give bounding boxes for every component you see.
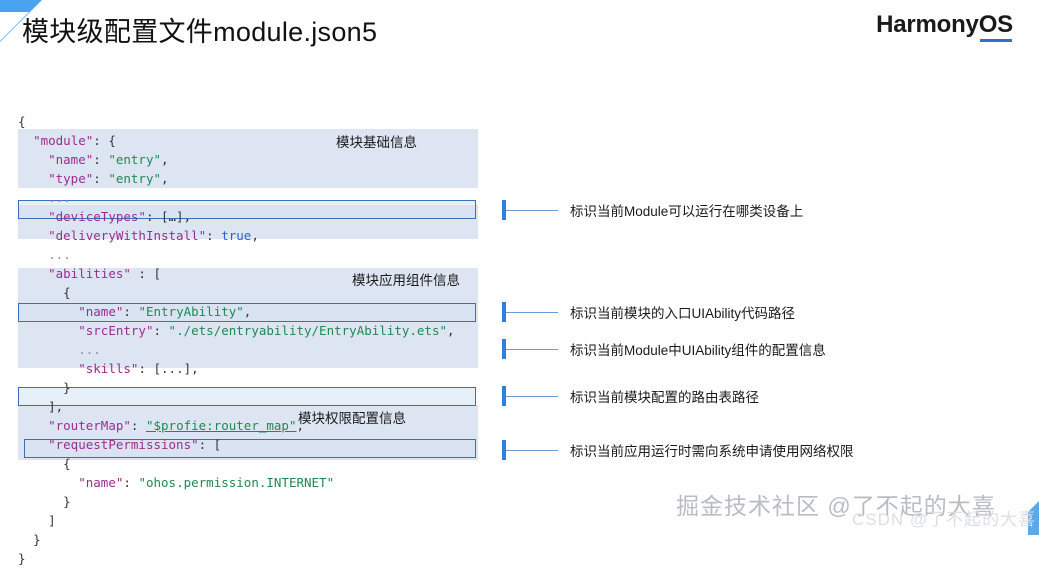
code-token: : — [131, 418, 146, 433]
code-token: ... — [48, 190, 71, 205]
code-token: "deviceTypes" — [48, 209, 146, 224]
code-token: : [ — [199, 437, 222, 452]
annotation-leader-line — [506, 396, 558, 397]
code-token: : — [123, 475, 138, 490]
annotation-text: 标识当前Module可以运行在哪类设备上 — [570, 200, 803, 220]
code-token: , — [161, 171, 169, 186]
brand-suffix-wrap: OS — [979, 11, 1013, 39]
code-token: "$profie:router_map" — [146, 418, 297, 433]
annotation-text: 标识当前模块的入口UIAbility代码路径 — [570, 302, 795, 322]
code-line: "name": "EntryAbility", — [18, 302, 488, 321]
code-line: ... — [18, 245, 488, 264]
code-token: , — [251, 228, 259, 243]
code-token: : — [206, 228, 221, 243]
code-token: ], — [48, 399, 63, 414]
code-token: "name" — [48, 152, 93, 167]
code-line: "name": "ohos.permission.INTERNET" — [18, 473, 488, 492]
code-token: "requestPermissions" — [48, 437, 199, 452]
code-listing: { "module": { "name": "entry", "type": "… — [18, 112, 488, 568]
code-line: } — [18, 549, 488, 568]
code-token: , — [447, 323, 455, 338]
code-token: true — [221, 228, 251, 243]
code-line: } — [18, 492, 488, 511]
code-line: ... — [18, 188, 488, 207]
code-token: "./ets/entryability/EntryAbility.ets" — [169, 323, 447, 338]
brand-prefix: Harmony — [876, 11, 979, 38]
code-token: : — [123, 304, 138, 319]
code-line: ], — [18, 397, 488, 416]
code-line: { — [18, 112, 488, 131]
code-line: { — [18, 454, 488, 473]
code-token: "name" — [78, 475, 123, 490]
annotation-routermap: 标识当前模块配置的路由表路径 — [502, 386, 759, 406]
code-token: ... — [48, 247, 71, 262]
annotation-leader-line — [506, 349, 558, 350]
harmonyos-logo: HarmonyOS — [876, 11, 1013, 39]
code-token: "srcEntry" — [78, 323, 153, 338]
code-line: "deliveryWithInstall": true, — [18, 226, 488, 245]
code-line: } — [18, 378, 488, 397]
code-token: , — [161, 152, 169, 167]
watermark-secondary: CSDN @了不起的大喜 — [852, 505, 1036, 530]
code-token: { — [63, 456, 71, 471]
annotation-text: 标识当前应用运行时需向系统申请使用网络权限 — [570, 440, 854, 460]
code-token: "module" — [33, 133, 93, 148]
section-caption-permissions: 模块权限配置信息 — [298, 407, 406, 427]
code-token: : [ — [131, 266, 161, 281]
code-token: "routerMap" — [48, 418, 131, 433]
code-token: : — [153, 323, 168, 338]
code-token: { — [63, 285, 71, 300]
page-title: 模块级配置文件module.json5 — [22, 10, 377, 49]
code-token: "type" — [48, 171, 93, 186]
annotation-text: 标识当前模块配置的路由表路径 — [570, 386, 759, 406]
code-token: , — [244, 304, 252, 319]
code-line: "srcEntry": "./ets/entryability/EntryAbi… — [18, 321, 488, 340]
brand-underline — [980, 39, 1012, 42]
brand-suffix: OS — [979, 11, 1013, 38]
code-token: "EntryAbility" — [138, 304, 243, 319]
code-token: : — [93, 152, 108, 167]
code-line: ] — [18, 511, 488, 530]
code-token: : { — [93, 133, 116, 148]
code-token: } — [63, 494, 71, 509]
code-token: } — [33, 532, 41, 547]
code-token: "ohos.permission.INTERNET" — [138, 475, 334, 490]
code-token: } — [18, 551, 26, 566]
code-line: } — [18, 530, 488, 549]
code-token: ... — [78, 342, 101, 357]
annotation-leader-line — [506, 450, 558, 451]
code-token: { — [18, 114, 26, 129]
code-line: "routerMap": "$profie:router_map", — [18, 416, 488, 435]
code-token: "abilities" — [48, 266, 131, 281]
annotation-leader-line — [506, 312, 558, 313]
annotation-uiability-config: 标识当前Module中UIAbility组件的配置信息 — [502, 339, 826, 359]
code-line: "skills": [...], — [18, 359, 488, 378]
section-caption-abilities: 模块应用组件信息 — [352, 269, 460, 289]
code-token: : [...], — [138, 361, 198, 376]
annotation-text: 标识当前Module中UIAbility组件的配置信息 — [570, 339, 826, 359]
code-token: "entry" — [108, 171, 161, 186]
section-caption-module-basic: 模块基础信息 — [336, 131, 417, 151]
code-line: "name": "entry", — [18, 150, 488, 169]
code-line: "requestPermissions": [ — [18, 435, 488, 454]
annotation-permission: 标识当前应用运行时需向系统申请使用网络权限 — [502, 440, 854, 460]
code-token: ] — [48, 513, 56, 528]
annotation-leader-line — [506, 210, 558, 211]
code-token: : […], — [146, 209, 191, 224]
code-token: "deliveryWithInstall" — [48, 228, 206, 243]
code-line: "type": "entry", — [18, 169, 488, 188]
annotation-devicetypes: 标识当前Module可以运行在哪类设备上 — [502, 200, 803, 220]
code-token: : — [93, 171, 108, 186]
code-line: ... — [18, 340, 488, 359]
code-line: "deviceTypes": […], — [18, 207, 488, 226]
annotation-srcentry: 标识当前模块的入口UIAbility代码路径 — [502, 302, 795, 322]
code-token: } — [63, 380, 71, 395]
code-token: "skills" — [78, 361, 138, 376]
code-token: "name" — [78, 304, 123, 319]
code-line: "module": { — [18, 131, 488, 150]
code-token: "entry" — [108, 152, 161, 167]
